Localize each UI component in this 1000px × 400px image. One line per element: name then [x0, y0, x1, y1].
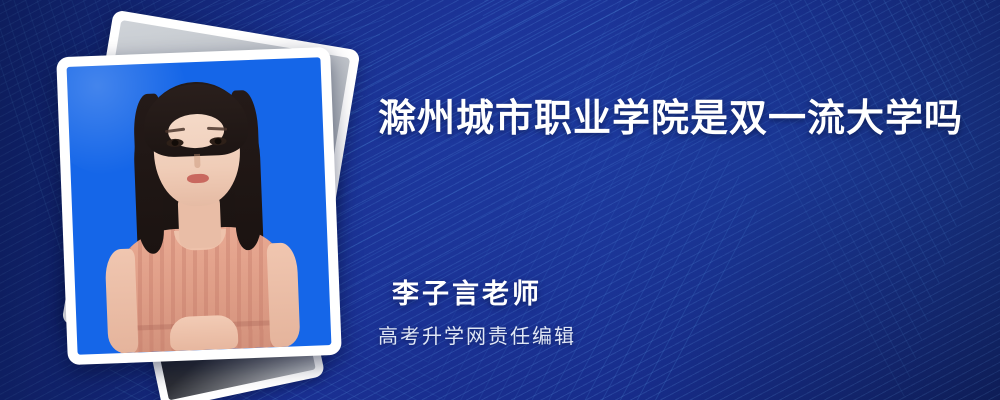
portrait-photo	[67, 57, 332, 355]
arm-right	[266, 242, 300, 347]
portrait-card-stack	[52, 36, 352, 366]
author-role: 高考升学网责任编辑	[378, 320, 576, 349]
hands	[169, 315, 238, 352]
text-block: 滁州城市职业学院是双一流大学吗 李子言老师 高考升学网责任编辑	[378, 0, 970, 400]
person-illustration	[67, 57, 332, 355]
headline-title: 滁州城市职业学院是双一流大学吗	[378, 96, 970, 144]
front-photo-card	[56, 47, 342, 365]
author-name: 李子言老师	[392, 272, 542, 311]
nose	[194, 154, 201, 168]
promo-banner: 滁州城市职业学院是双一流大学吗 李子言老师 高考升学网责任编辑	[0, 0, 1000, 400]
arm-left	[105, 249, 139, 354]
